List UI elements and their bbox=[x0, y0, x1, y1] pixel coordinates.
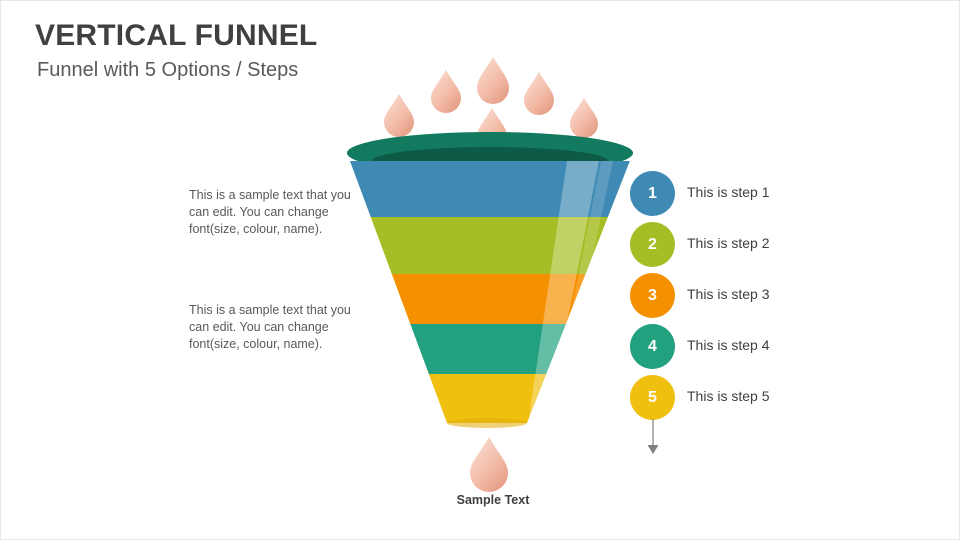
droplet-icon-output bbox=[470, 437, 508, 492]
legend-row-2[interactable]: 2 This is step 2 bbox=[630, 222, 830, 273]
legend-row-1[interactable]: 1 This is step 1 bbox=[630, 171, 830, 222]
funnel-highlight-narrow bbox=[549, 161, 613, 424]
page-title: VERTICAL FUNNEL bbox=[35, 19, 317, 53]
droplet-icon bbox=[524, 72, 554, 115]
page-subtitle: Funnel with 5 Options / Steps bbox=[37, 59, 298, 82]
step-number-badge-4: 4 bbox=[630, 324, 675, 369]
droplet-icon bbox=[477, 57, 509, 104]
funnel-band-5 bbox=[331, 374, 651, 424]
slide-canvas: VERTICAL FUNNEL Funnel with 5 Options / … bbox=[0, 0, 960, 540]
step-label-5: This is step 5 bbox=[687, 388, 769, 404]
funnel-rim-inner bbox=[372, 147, 608, 175]
legend-row-3[interactable]: 3 This is step 3 bbox=[630, 273, 830, 324]
funnel-rim-outer bbox=[347, 132, 633, 174]
bottom-caption: Sample Text bbox=[403, 493, 583, 507]
droplet-icon bbox=[477, 108, 507, 151]
step-legend: 1 This is step 1 2 This is step 2 3 This… bbox=[630, 171, 830, 426]
step-label-2: This is step 2 bbox=[687, 235, 769, 251]
funnel-highlight-wide bbox=[528, 161, 599, 424]
droplet-icon bbox=[431, 70, 461, 113]
down-arrow-icon bbox=[630, 419, 676, 457]
funnel-band-1 bbox=[331, 161, 651, 217]
funnel-band-2 bbox=[331, 217, 651, 274]
note-text-1: This is a sample text that you can edit.… bbox=[189, 187, 361, 238]
step-label-1: This is step 1 bbox=[687, 184, 769, 200]
step-number-badge-5: 5 bbox=[630, 375, 675, 420]
funnel-bands bbox=[331, 161, 651, 424]
note-text-2: This is a sample text that you can edit.… bbox=[189, 302, 361, 353]
step-number-badge-2: 2 bbox=[630, 222, 675, 267]
legend-row-4[interactable]: 4 This is step 4 bbox=[630, 324, 830, 375]
step-label-4: This is step 4 bbox=[687, 337, 769, 353]
step-label-3: This is step 3 bbox=[687, 286, 769, 302]
step-number-badge-3: 3 bbox=[630, 273, 675, 318]
funnel-band-4 bbox=[331, 324, 651, 374]
funnel-band-3 bbox=[331, 274, 651, 324]
droplet-icon bbox=[384, 94, 414, 137]
droplet-icon bbox=[570, 98, 598, 138]
droplet-group-top bbox=[384, 57, 598, 151]
funnel-bottom-lip bbox=[447, 418, 527, 428]
step-number-badge-1: 1 bbox=[630, 171, 675, 216]
